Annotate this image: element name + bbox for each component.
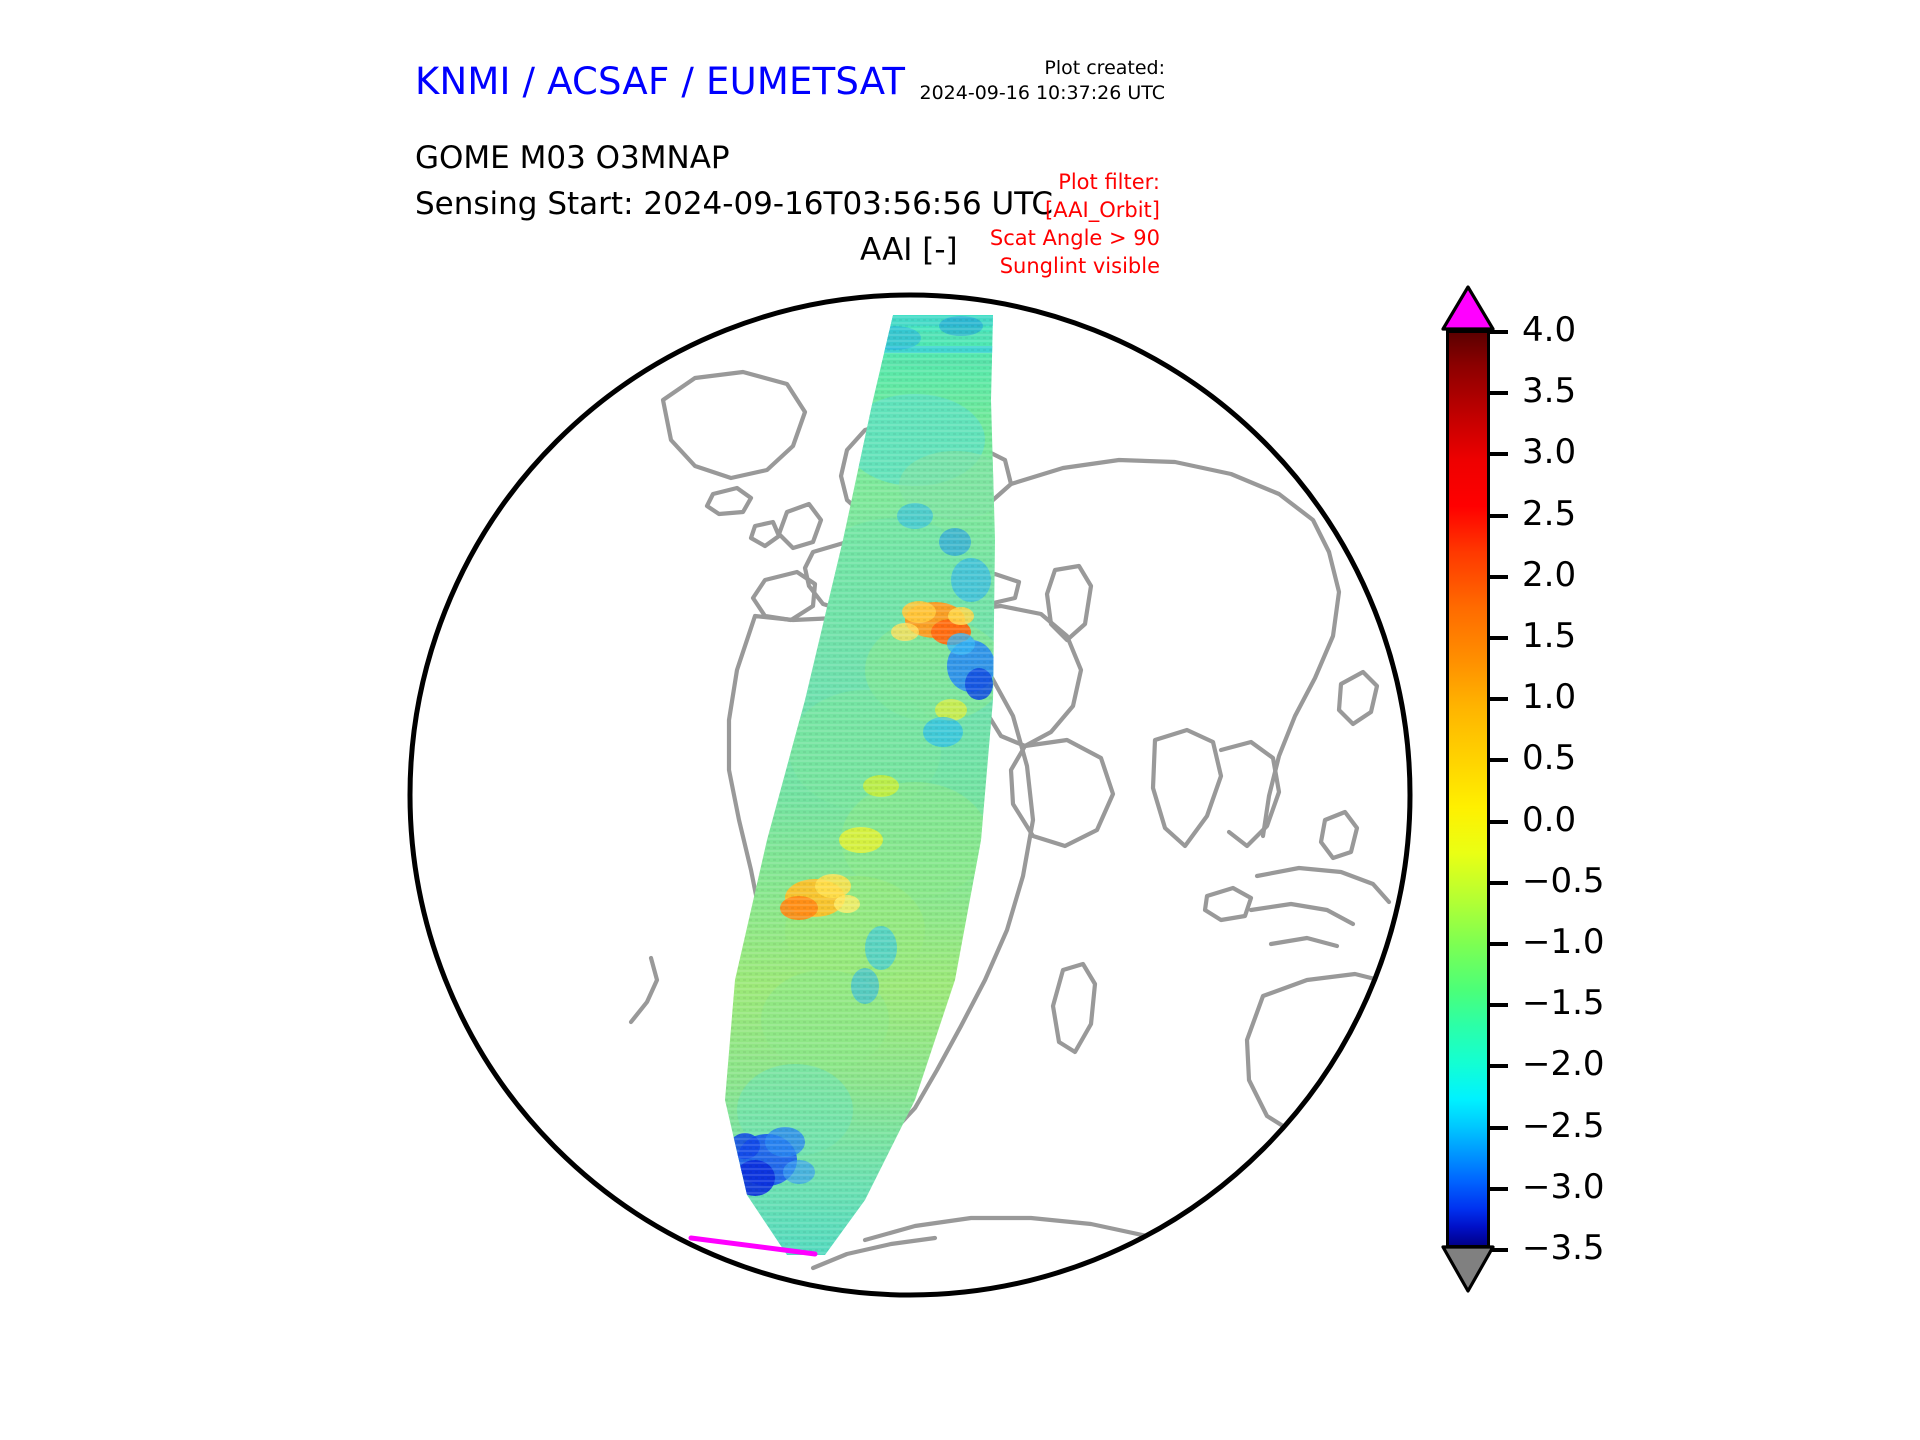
colorbar-tick-label: 4.0 xyxy=(1522,310,1576,350)
colorbar-tick xyxy=(1490,1064,1508,1068)
colorbar-tick-label: −0.5 xyxy=(1522,861,1605,901)
colorbar-tick xyxy=(1490,881,1508,885)
colorbar-tick-label: −3.5 xyxy=(1522,1228,1605,1268)
plot-filter-block: Plot filter: [AAI_Orbit] Scat Angle > 90… xyxy=(990,168,1160,280)
colorbar-tick xyxy=(1490,391,1508,395)
colorbar-tick-label: 3.5 xyxy=(1522,371,1576,411)
colorbar-tick-label: 0.5 xyxy=(1522,738,1576,778)
colorbar-tick xyxy=(1490,758,1508,762)
colorbar-tick xyxy=(1490,575,1508,579)
sensing-start-label: Sensing Start: 2024-09-16T03:56:56 UTC xyxy=(415,186,1053,222)
colorbar-tick xyxy=(1490,820,1508,824)
colorbar-gradient xyxy=(1446,330,1490,1248)
colorbar-tick-label: −1.0 xyxy=(1522,922,1605,962)
colorbar-tick-label: 2.0 xyxy=(1522,555,1576,595)
colorbar-tick xyxy=(1490,330,1508,334)
colorbar-tick-label: 1.0 xyxy=(1522,677,1576,717)
colorbar-tick xyxy=(1490,452,1508,456)
plot-quantity-title: AAI [-] xyxy=(860,232,958,268)
plot-filter-label: Plot filter: xyxy=(990,168,1160,196)
colorbar-tick xyxy=(1490,1003,1508,1007)
colorbar-tick-label: 0.0 xyxy=(1522,800,1576,840)
plot-created-label: Plot created: xyxy=(920,56,1166,81)
colorbar-tick xyxy=(1490,1248,1508,1252)
colorbar-tick xyxy=(1490,1126,1508,1130)
colorbar-tick-label: 1.5 xyxy=(1522,616,1576,656)
colorbar-tick-label: −2.0 xyxy=(1522,1044,1605,1084)
colorbar-tick-label: −3.0 xyxy=(1522,1167,1605,1207)
colorbar-tick xyxy=(1490,697,1508,701)
colorbar-tick xyxy=(1490,636,1508,640)
plot-filter-name: [AAI_Orbit] xyxy=(990,196,1160,224)
organisation-title: KNMI / ACSAF / EUMETSAT xyxy=(415,60,905,103)
colorbar-tick xyxy=(1490,1187,1508,1191)
colorbar: 4.03.53.02.52.01.51.00.50.0−0.5−1.0−1.5−… xyxy=(1440,285,1860,1305)
plot-created-timestamp: 2024-09-16 10:37:26 UTC xyxy=(920,81,1166,106)
colorbar-tick-label: 3.0 xyxy=(1522,432,1576,472)
plot-created-block: Plot created: 2024-09-16 10:37:26 UTC xyxy=(920,56,1166,106)
triangle-up-icon xyxy=(1440,285,1496,331)
colorbar-tick-label: −1.5 xyxy=(1522,983,1605,1023)
plot-filter-sunglint: Sunglint visible xyxy=(990,252,1160,280)
product-name: GOME M03 O3MNAP xyxy=(415,140,730,176)
triangle-down-icon xyxy=(1440,1243,1496,1293)
colorbar-tick-label: −2.5 xyxy=(1522,1106,1605,1146)
orthographic-map xyxy=(395,280,1425,1310)
colorbar-tick xyxy=(1490,514,1508,518)
colorbar-tick xyxy=(1490,942,1508,946)
colorbar-tick-label: 2.5 xyxy=(1522,494,1576,534)
plot-filter-condition: Scat Angle > 90 xyxy=(990,224,1160,252)
